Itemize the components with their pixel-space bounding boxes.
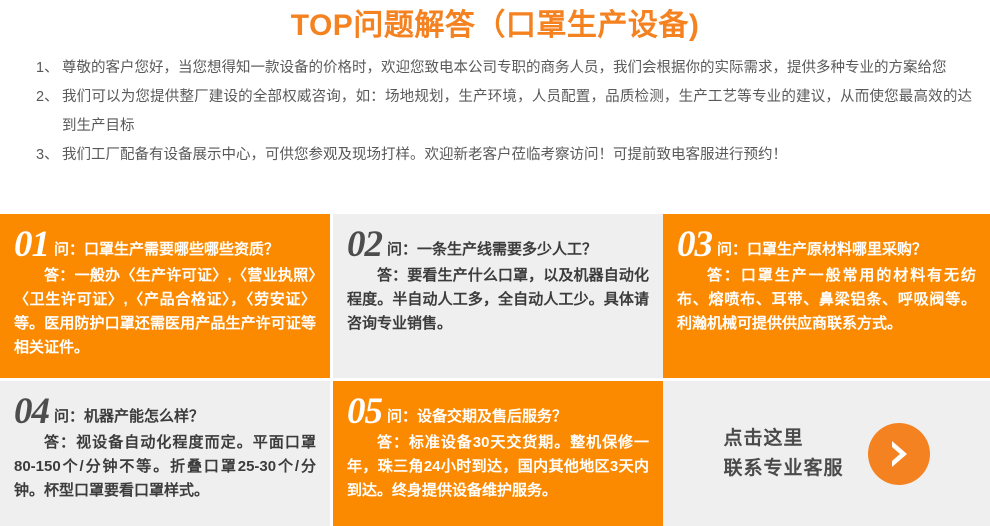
faq-card-number: 03 [677,226,712,264]
intro-item: 2、 我们可以为您提供整厂建设的全部权威咨询，如：场地规划，生产环境，人员配置，… [36,83,972,141]
faq-card-answer: 答：视设备自动化程度而定。平面口罩80-150个/分钟不等。折叠口罩25-30个… [14,431,316,503]
faq-page: TOP问题解答（口罩生产设备) 1、 尊敬的客户您好，当您想得知一款设备的价格时… [0,0,990,526]
page-title: TOP问题解答（口罩生产设备) [0,6,990,46]
faq-card-number: 02 [347,226,382,264]
cta-line-2: 联系专业客服 [723,454,843,484]
faq-card-number: 01 [14,226,49,264]
faq-card-02[interactable]: 02 问：一条生产线需要多少人工？ 答：要看生产什么口罩，以及机器自动化程度。半… [333,214,663,378]
intro-item: 3、 我们工厂配备有设备展示中心，可供您参观及现场打样。欢迎新老客户莅临考察访问… [36,141,972,170]
faq-card-answer: 答：标准设备30天交货期。整机保修一年，珠三角24小时到达，国内其他地区3天内到… [347,431,649,503]
faq-card-question-line: 02 问：一条生产线需要多少人工？ [347,226,649,264]
intro-item-text: 尊敬的客户您好，当您想得知一款设备的价格时，欢迎您致电本公司专职的商务人员，我们… [62,60,947,76]
intro-item-index: 1、 [36,54,59,83]
chevron-right-icon[interactable] [868,423,930,485]
faq-card-03[interactable]: 03 问：口罩生产原材料哪里采购？ 答：口罩生产一般常用的材料有无纺布、熔喷布、… [663,214,990,378]
intro-item-text: 我们可以为您提供整厂建设的全部权威咨询，如：场地规划，生产环境，人员配置，品质检… [62,89,972,134]
intro-item-index: 3、 [36,141,59,170]
faq-card-01[interactable]: 01 问：口罩生产需要哪些哪些资质？ 答：一般办〈生产许可证〉,〈营业执照〉〈卫… [0,214,330,378]
faq-card-answer: 答：一般办〈生产许可证〉,〈营业执照〉〈卫生许可证〉,〈产品合格证〉，〈劳安证〉… [14,264,316,360]
faq-card-question-line: 04 问：机器产能怎么样？ [14,393,316,431]
faq-card-question-line: 01 问：口罩生产需要哪些哪些资质？ [14,226,316,264]
faq-card-number: 04 [14,393,49,431]
faq-card-question-line: 03 问：口罩生产原材料哪里采购？ [677,226,976,264]
faq-card-05[interactable]: 05 问：设备交期及售后服务？ 答：标准设备30天交货期。整机保修一年，珠三角2… [333,381,663,526]
faq-card-question: 问：一条生产线需要多少人工？ [387,240,597,260]
page-header: TOP问题解答（口罩生产设备) [0,0,990,46]
faq-card-grid: 01 问：口罩生产需要哪些哪些资质？ 答：一般办〈生产许可证〉,〈营业执照〉〈卫… [0,214,990,526]
intro-item: 1、 尊敬的客户您好，当您想得知一款设备的价格时，欢迎您致电本公司专职的商务人员… [36,54,972,83]
faq-card-question: 问：机器产能怎么样？ [54,407,204,427]
intro-list: 1、 尊敬的客户您好，当您想得知一款设备的价格时，欢迎您致电本公司专职的商务人员… [0,54,990,170]
cta-line-1: 点击这里 [723,424,843,454]
faq-card-answer: 答：口罩生产一般常用的材料有无纺布、熔喷布、耳带、鼻梁铝条、呼吸阀等。利瀚机械可… [677,264,976,336]
intro-item-index: 2、 [36,83,59,112]
cta-text-block: 点击这里 联系专业客服 [723,424,843,484]
faq-card-question: 问：口罩生产需要哪些哪些资质？ [54,240,279,260]
faq-card-question: 问：口罩生产原材料哪里采购？ [717,240,927,260]
contact-cta-panel[interactable]: 点击这里 联系专业客服 [663,381,990,526]
faq-card-question-line: 05 问：设备交期及售后服务？ [347,393,649,431]
faq-card-04[interactable]: 04 问：机器产能怎么样？ 答：视设备自动化程度而定。平面口罩80-150个/分… [0,381,330,526]
faq-card-answer: 答：要看生产什么口罩，以及机器自动化程度。半自动人工多，全自动人工少。具体请咨询… [347,264,649,336]
faq-card-number: 05 [347,393,382,431]
faq-card-question: 问：设备交期及售后服务？ [387,407,567,427]
intro-item-text: 我们工厂配备有设备展示中心，可供您参观及现场打样。欢迎新老客户莅临考察访问！可提… [62,147,787,163]
